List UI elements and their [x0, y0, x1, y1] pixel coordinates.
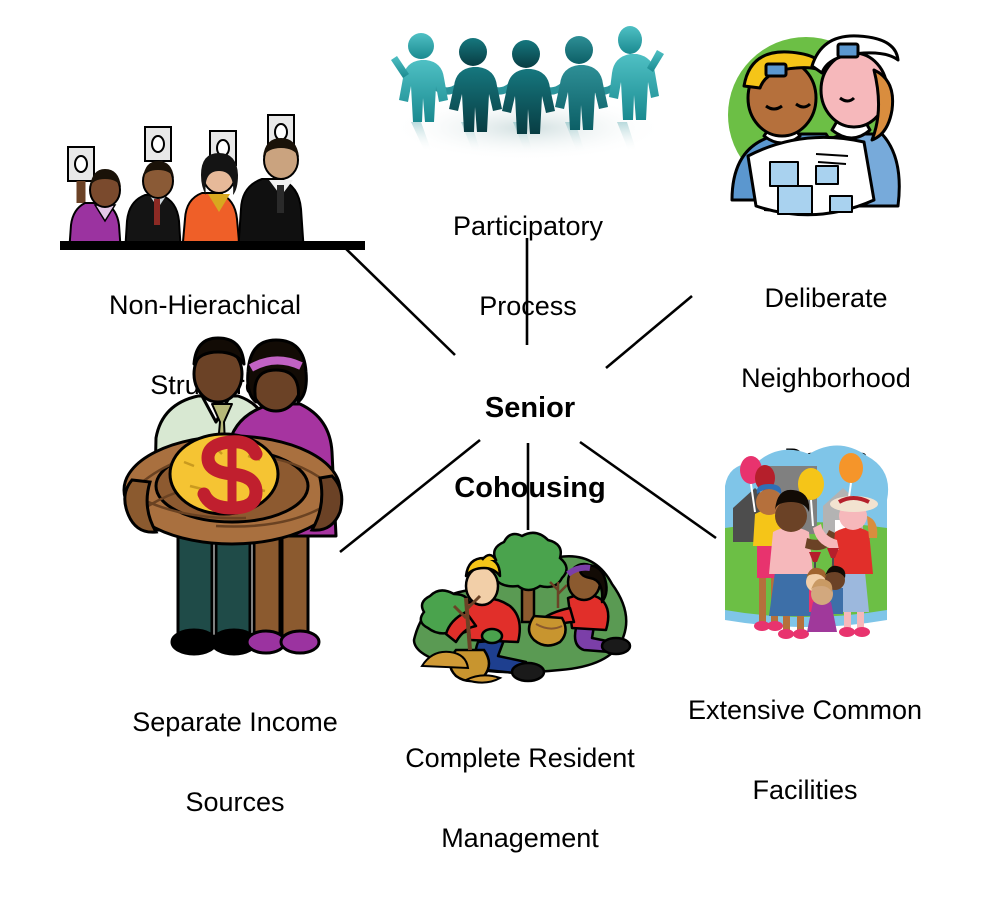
node-label-complete-resident-management: Complete Resident Management — [370, 698, 670, 898]
label-line-1: Participatory — [378, 206, 678, 246]
label-line-2: Facilities — [655, 770, 955, 810]
label-line-1: Complete Resident — [370, 738, 670, 778]
voting-people-icon — [50, 95, 370, 250]
architects-blueprint-icon — [704, 20, 919, 235]
label-line-2: Sources — [90, 782, 380, 822]
center-title-line2: Cohousing — [405, 468, 655, 508]
label-line-1: Separate Income — [90, 702, 380, 742]
node-label-separate-income-sources: Separate Income Sources — [90, 662, 380, 862]
label-line-1: Non-Hierachical — [40, 285, 370, 325]
page-title: Senior Cohousing — [405, 348, 655, 548]
people-holding-hands-icon — [383, 18, 673, 168]
concept-map: Senior Cohousing — [0, 0, 984, 792]
label-line-1: Deliberate — [676, 278, 976, 318]
node-label-participatory-process: Participatory Process — [378, 166, 678, 366]
tree-planting-icon — [408, 520, 633, 695]
center-title-line1: Senior — [405, 388, 655, 428]
label-line-2: Neighborhood — [676, 358, 976, 398]
nest-egg-couple-icon — [120, 330, 350, 660]
node-label-extensive-common-facilities: Extensive Common Facilities — [655, 650, 955, 850]
label-line-2: Process — [378, 286, 678, 326]
label-line-1: Extensive Common — [655, 690, 955, 730]
label-line-2: Management — [370, 818, 670, 858]
community-gathering-icon — [711, 440, 901, 645]
